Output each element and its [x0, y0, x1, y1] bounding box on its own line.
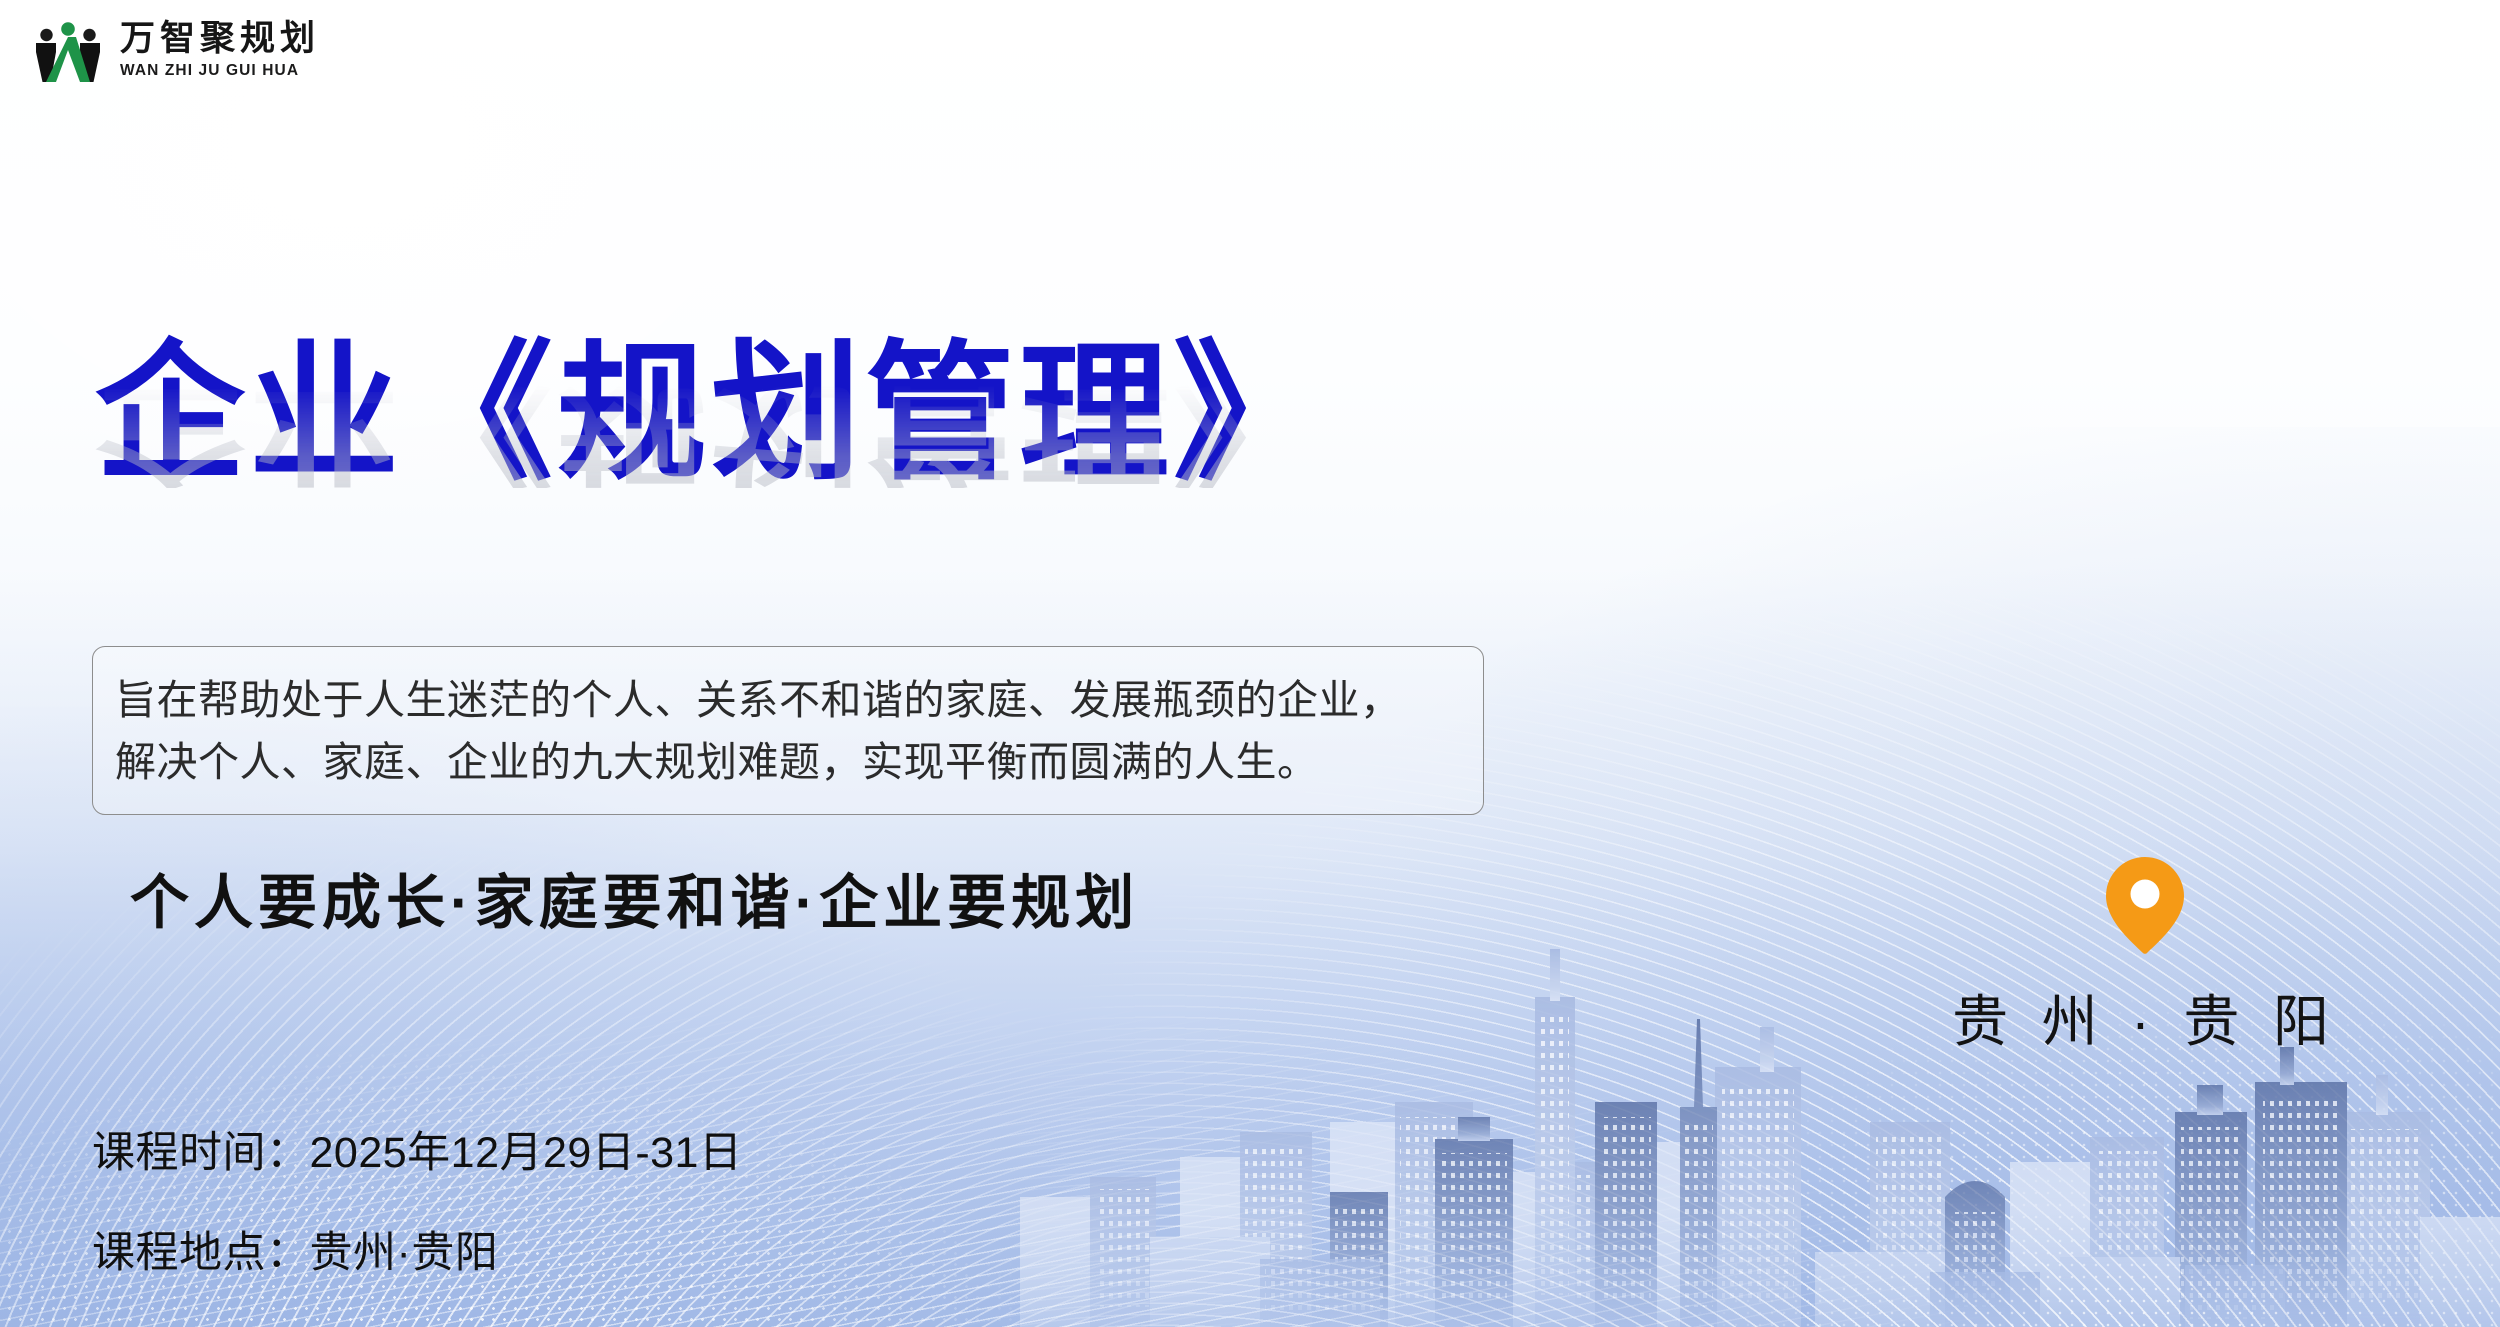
poster-canvas: 万智聚规划 WAN ZHI JU GUI HUA 企业《规划管理》 企业《规划管… [0, 0, 2500, 1327]
brand-logo: 万智聚规划 WAN ZHI JU GUI HUA [30, 14, 320, 86]
description-box: 旨在帮助处于人生迷茫的个人、关系不和谐的家庭、发展瓶颈的企业， 解决个人、家庭、… [92, 646, 1484, 815]
description-line-1: 旨在帮助处于人生迷茫的个人、关系不和谐的家庭、发展瓶颈的企业， [115, 669, 1459, 731]
description-line-2: 解决个人、家庭、企业的九大规划难题，实现平衡而圆满的人生。 [115, 731, 1459, 793]
three-people-logo-icon [30, 14, 106, 86]
tagline: 个人要成长·家庭要和谐·企业要规划 [130, 855, 1139, 940]
course-time: 课程时间：2025年12月29日-31日 [92, 1118, 742, 1180]
title-reflection: 企业《规划管理》 [95, 380, 1695, 488]
brand-name-en: WAN ZHI JU GUI HUA [120, 63, 320, 79]
location-block: 贵 州 · 贵 阳 [1955, 855, 2335, 1058]
title-block: 企业《规划管理》 企业《规划管理》 [95, 338, 1695, 638]
course-info-block: 课程时间：2025年12月29日-31日 课程地点：贵州·贵阳 [92, 1118, 742, 1280]
course-place: 课程地点：贵州·贵阳 [92, 1218, 742, 1280]
location-label: 贵 州 · 贵 阳 [1952, 977, 2338, 1058]
location-pin-icon [2103, 855, 2187, 955]
brand-name-cn: 万智聚规划 [120, 21, 320, 56]
